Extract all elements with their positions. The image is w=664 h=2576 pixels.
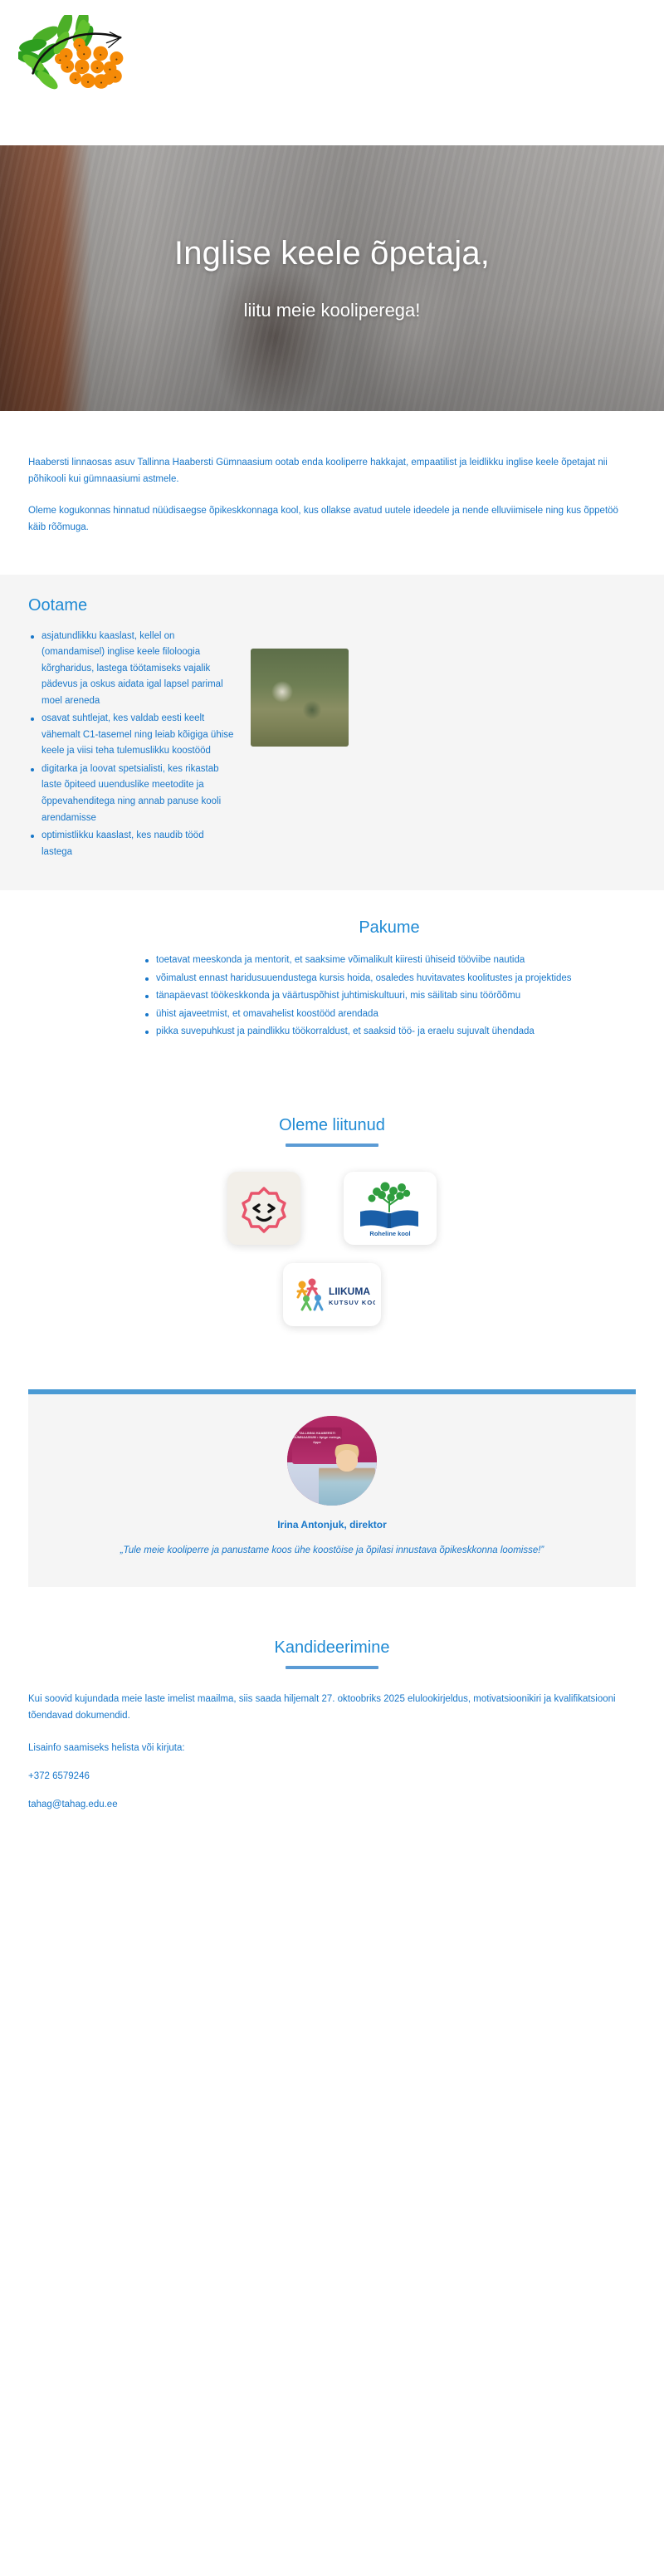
smiley-star-icon	[238, 1183, 290, 1234]
list-item: tänapäevast töökeskkonda ja väärtuspõhis…	[143, 988, 636, 1005]
badge-row-top: Roheline kool	[28, 1172, 636, 1245]
contact-phone[interactable]: +372 6579246	[28, 1768, 636, 1785]
liikuma-label: LIIKUMA	[329, 1286, 370, 1297]
memberships-title: Oleme liitunud	[28, 1116, 636, 1135]
title-underline	[286, 1666, 378, 1669]
title-underline	[286, 1144, 378, 1147]
intro-section: Haabersti linnaosas asuv Tallinna Haaber…	[0, 411, 664, 575]
roheline-kool-label: Roheline kool	[369, 1230, 410, 1237]
list-item: asjatundlikku kaaslast, kellel on (omand…	[28, 629, 236, 710]
hero-subtitle: liitu meie kooliperega!	[244, 300, 421, 321]
ootame-section: Ootame asjatundlikku kaaslast, kellel on…	[0, 575, 664, 891]
job-posting-page: Inglise keele õpetaja, liitu meie koolip…	[0, 0, 664, 2576]
contact-intro: Lisainfo saamiseks helista või kirjuta:	[28, 1740, 636, 1756]
pakume-photo	[28, 970, 126, 1061]
kutsuv-kool-label: KUTSUV KOOL	[329, 1299, 375, 1306]
active-school-people-icon: LIIKUMA KUTSUV KOOL	[289, 1271, 375, 1318]
ootame-photo	[251, 649, 349, 747]
intro-paragraph-1: Haabersti linnaosas asuv Tallinna Haaber…	[28, 454, 636, 487]
roheline-kool-badge[interactable]: Roheline kool	[344, 1172, 437, 1245]
apply-instructions: Kui soovid kujundada meie laste imelist …	[28, 1691, 636, 1724]
testimonial-author: Irina Antonjuk, direktor	[75, 1519, 589, 1530]
badge-row-bottom: LIIKUMA KUTSUV KOOL	[28, 1263, 636, 1326]
site-header	[0, 0, 664, 145]
list-item: pikka suvepuhkust ja paindlikku töökorra…	[143, 1024, 636, 1041]
hero-banner: Inglise keele õpetaja, liitu meie koolip…	[0, 145, 664, 411]
apply-section: Kandideerimine Kui soovid kujundada meie…	[0, 1620, 664, 1861]
liikuma-kutsuv-kool-badge[interactable]: LIIKUMA KUTSUV KOOL	[283, 1263, 381, 1326]
avatar-person	[319, 1444, 375, 1506]
list-item: digitarka ja loovat spetsialisti, kes ri…	[28, 762, 236, 826]
pakume-section: Pakume toetavat meeskonda ja mentorit, e…	[0, 890, 664, 1091]
ootame-title: Ootame	[28, 596, 636, 615]
testimonial-card: TALLINNA HAABERSTI GÜMNAASIUM • õpige me…	[28, 1389, 636, 1587]
testimonial-section: TALLINNA HAABERSTI GÜMNAASIUM • õpige me…	[0, 1374, 664, 1620]
apply-title: Kandideerimine	[28, 1638, 636, 1658]
avatar: TALLINNA HAABERSTI GÜMNAASIUM • õpige me…	[287, 1416, 377, 1506]
ootame-list: asjatundlikku kaaslast, kellel on (omand…	[28, 629, 236, 863]
list-item: osavat suhtlejat, kes valdab eesti keelt…	[28, 711, 236, 760]
green-school-tree-book-icon: Roheline kool	[352, 1178, 428, 1238]
memberships-section: Oleme liitunud	[0, 1091, 664, 1374]
contact-email[interactable]: tahag@tahag.edu.ee	[28, 1796, 636, 1813]
testimonial-quote: „Tule meie kooliperre ja panustame koos …	[75, 1542, 589, 1559]
kiusamisvaba-kool-badge[interactable]	[227, 1172, 300, 1245]
pakume-title: Pakume	[143, 918, 636, 938]
intro-paragraph-2: Oleme kogukonnas hinnatud nüüdisaegse õp…	[28, 502, 636, 536]
school-logo-icon[interactable]	[18, 15, 151, 131]
pakume-list: toetavat meeskonda ja mentorit, et saaks…	[143, 953, 636, 1041]
hero-title: Inglise keele õpetaja,	[174, 235, 490, 272]
list-item: toetavat meeskonda ja mentorit, et saaks…	[143, 953, 636, 969]
list-item: ühist ajaveetmist, et omavahelist koostö…	[143, 1006, 636, 1023]
list-item: optimistlikku kaaslast, kes naudib tööd …	[28, 828, 236, 860]
list-item: võimalust ennast haridusuuendustega kurs…	[143, 971, 636, 987]
